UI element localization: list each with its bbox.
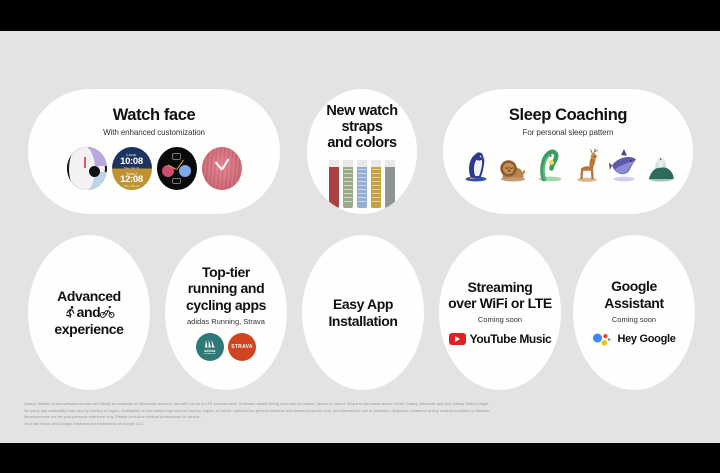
hey-google-logo[interactable]: Hey Google: [592, 332, 675, 347]
adidas-logo[interactable]: adidas RUNNING: [196, 333, 224, 361]
legal-disclaimer: Galaxy Watch4 series software update wil…: [24, 401, 704, 428]
sleep-coaching-subtitle: For personal sleep pattern: [523, 128, 614, 137]
card-advanced-experience[interactable]: Advanced and experience: [28, 235, 150, 390]
disclaimer-line-1: Galaxy Watch4 series software update wil…: [24, 401, 704, 408]
card-sleep-coaching[interactable]: Sleep Coaching For personal sleep patter…: [443, 89, 693, 214]
straps-title-line-3: and colors: [326, 135, 397, 151]
sleep-coaching-title: Sleep Coaching: [509, 106, 627, 124]
play-triangle: [455, 336, 460, 342]
watch-face-gallery: Local 10:08 Thu, Oct 11 Seoul 12:08 Thu,…: [67, 147, 242, 190]
disclaimer-line-2: 3rd party app availability may vary by c…: [24, 408, 704, 415]
strap-weave: [372, 169, 380, 205]
advanced-title-line-3: experience: [54, 321, 123, 337]
straps-gallery: [329, 160, 395, 208]
assistant-title-line-2: Assistant: [604, 295, 663, 311]
youtube-music-label: YouTube Music: [470, 332, 552, 346]
watch-face-pink-radial[interactable]: [202, 147, 242, 190]
streaming-subtitle: Coming soon: [478, 315, 522, 324]
strap-clasp: [357, 160, 367, 168]
walrus-icon: [646, 146, 676, 182]
easy-app-title-line-2: Installation: [328, 313, 397, 329]
strap-clasp: [371, 160, 381, 168]
strap-grey[interactable]: [385, 160, 395, 208]
abstract-hand: [84, 157, 86, 168]
watch-face-subtitle: With enhanced customization: [103, 128, 205, 137]
strap-red[interactable]: [329, 160, 339, 208]
top-feature-row: Watch face With enhanced customization L…: [0, 31, 720, 186]
deer-icon: [572, 146, 602, 182]
card-easy-app-installation[interactable]: Easy App Installation: [302, 235, 424, 390]
assistant-title-line-1: Google: [604, 278, 663, 294]
strava-logo[interactable]: STRAVA: [228, 333, 256, 361]
strap-weave: [344, 169, 352, 205]
pink-minute-hand: [215, 161, 222, 170]
presentation-slide-stage: Watch face With enhanced customization L…: [0, 0, 720, 473]
analog-blue-blob: [179, 165, 191, 177]
dual-time-second-date: Thu, Oct 11: [112, 184, 152, 188]
watch-face-dual-time[interactable]: Local 10:08 Thu, Oct 11 Seoul 12:08 Thu,…: [112, 147, 152, 190]
slide-content: Watch face With enhanced customization L…: [0, 31, 720, 443]
card-running-cycling-apps[interactable]: Top-tier running and cycling apps adidas…: [165, 235, 287, 390]
straps-title-line-2: straps: [326, 119, 397, 135]
strap-weave: [358, 169, 366, 205]
streaming-title-line-2: over WiFi or LTE: [448, 295, 552, 311]
straps-title: New watch straps and colors: [326, 103, 397, 152]
watch-face-title: Watch face: [113, 106, 196, 124]
shark-icon: [609, 146, 639, 182]
watch-face-analog-dark[interactable]: [157, 147, 197, 190]
alligator-icon: [535, 146, 565, 182]
apps-title-line-2: running and: [186, 280, 266, 296]
youtube-play-icon: [449, 333, 466, 345]
strava-label: STRAVA: [231, 344, 253, 350]
youtube-music-logo[interactable]: YouTube Music: [449, 332, 552, 346]
cycling-icon: [100, 305, 115, 319]
advanced-title-line-1: Advanced: [54, 288, 123, 304]
assistant-subtitle: Coming soon: [612, 315, 656, 324]
hey-google-label: Hey Google: [617, 333, 675, 345]
analog-complication-bottom: [172, 178, 182, 185]
watch-face-abstract[interactable]: [67, 147, 107, 190]
card-watch-face[interactable]: Watch face With enhanced customization L…: [28, 89, 280, 214]
apps-title-line-3: cycling apps: [186, 297, 266, 313]
adidas-sublabel: RUNNING: [204, 353, 216, 355]
streaming-title-line-1: Streaming: [448, 279, 552, 295]
advanced-title-line-2: and: [54, 304, 123, 320]
strap-clasp: [343, 160, 353, 168]
strap-clasp: [385, 160, 395, 168]
strap-clasp: [329, 160, 339, 168]
strap-blue[interactable]: [357, 160, 367, 208]
bottom-feature-row: Advanced and experience: [0, 221, 720, 396]
analog-complication-top: [172, 153, 182, 160]
google-assistant-dots-icon: [592, 332, 612, 347]
disclaimer-line-4: YouTube Music and Google Assistant are t…: [24, 421, 704, 428]
penguin-icon: [461, 146, 491, 182]
card-google-assistant[interactable]: Google Assistant Coming soon Hey Google: [573, 235, 695, 390]
app-logo-group: adidas RUNNING STRAVA: [196, 333, 256, 361]
streaming-title: Streaming over WiFi or LTE: [442, 279, 558, 311]
dual-time-local-date: Thu, Oct 11: [112, 166, 152, 170]
abstract-dot: [89, 166, 100, 177]
apps-title-line-1: Top-tier: [186, 264, 266, 280]
running-icon: [63, 305, 77, 319]
advanced-and-word: and: [77, 304, 101, 320]
lion-icon: [498, 146, 528, 182]
straps-title-line-1: New watch: [326, 103, 397, 119]
easy-app-title-line-1: Easy App: [328, 296, 397, 312]
strap-sage[interactable]: [343, 160, 353, 208]
adidas-stripes-icon: [204, 339, 217, 348]
sleep-animal-gallery: [461, 146, 676, 182]
easy-app-title: Easy App Installation: [322, 296, 403, 328]
strap-gold[interactable]: [371, 160, 381, 208]
advanced-title: Advanced and experience: [48, 288, 129, 337]
apps-subtitle: adidas Running, Strava: [187, 317, 265, 326]
assistant-title: Google Assistant: [598, 278, 669, 310]
card-streaming[interactable]: Streaming over WiFi or LTE Coming soon Y…: [439, 235, 561, 390]
apps-title: Top-tier running and cycling apps: [180, 264, 272, 313]
disclaimer-line-3: Measurements are for your personal refer…: [24, 414, 704, 421]
pink-hour-hand: [221, 158, 229, 169]
card-watch-straps[interactable]: New watch straps and colors: [307, 89, 417, 214]
